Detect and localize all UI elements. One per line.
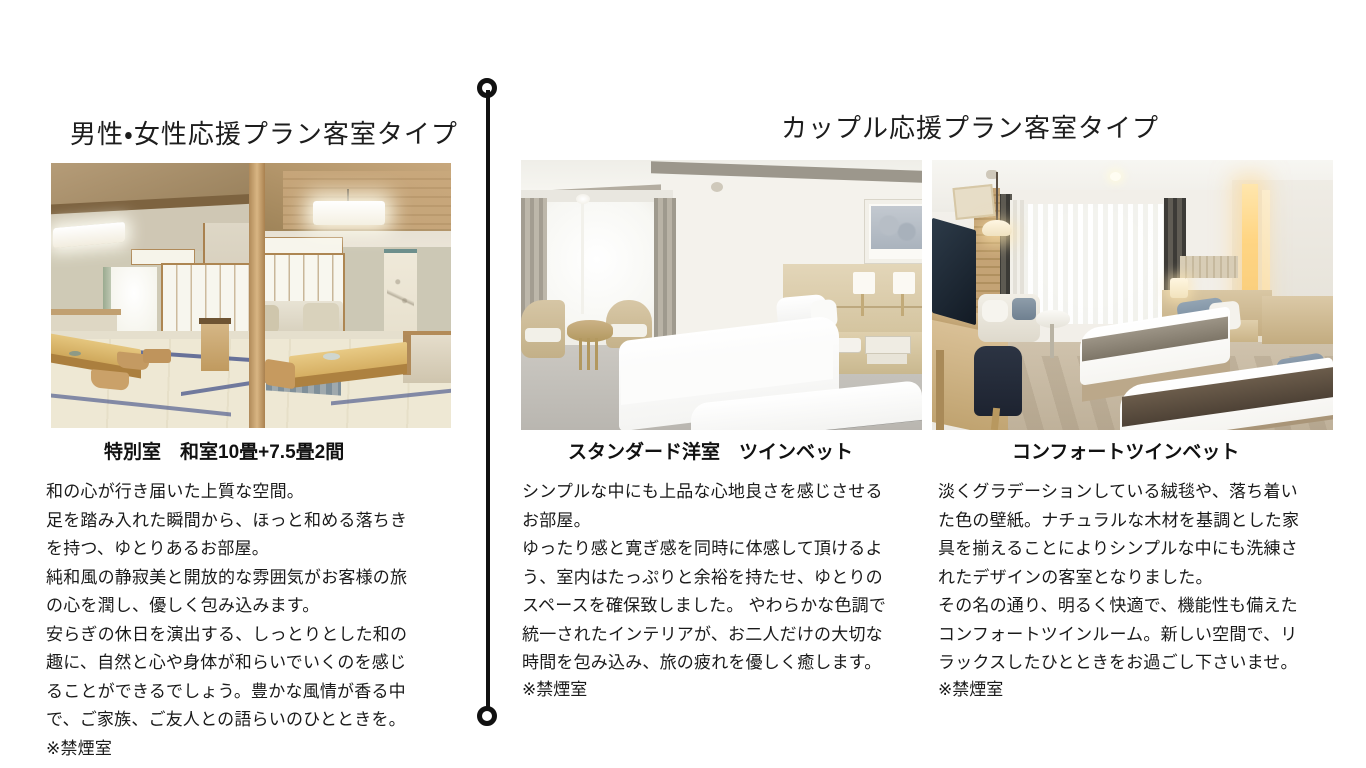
divider-bottom-ring-icon bbox=[477, 706, 497, 726]
room-description-comfort-twin: 淡くグラデーションしている絨毯や、落ち着い た色の壁紙。ナチュラルな木材を基調と… bbox=[938, 478, 1338, 678]
room-description-standard-twin: シンプルな中にも上品な心地良さを感じさせる お部屋。 ゆったり感と寛ぎ感を同時に… bbox=[522, 478, 928, 678]
room-photo-standard-twin bbox=[521, 160, 922, 430]
smoking-note-standard-twin: ※禁煙室 bbox=[522, 676, 587, 705]
room-type-comparison-page: 男性・女性応援プラン客室タイプ bbox=[0, 0, 1366, 768]
plan-title-left: 男性・女性応援プラン客室タイプ bbox=[70, 114, 458, 151]
smoking-note-comfort-twin: ※禁煙室 bbox=[938, 676, 1003, 705]
plan-title-right: カップル応援プラン客室タイプ bbox=[781, 108, 1159, 145]
room-name-japanese-suite: 特別室 和室10畳+7.5畳2間 bbox=[104, 437, 344, 464]
room-name-comfort-twin: コンフォートツインベット bbox=[1012, 437, 1239, 464]
room-description-japanese-suite: 和の心が行き届いた上質な空間。 足を踏み入れた瞬間から、ほっと和める落ちき を持… bbox=[46, 478, 458, 763]
room-photo-comfort-twin bbox=[932, 160, 1333, 430]
room-name-standard-twin: スタンダード洋室 ツインベット bbox=[568, 437, 853, 464]
divider-stem bbox=[486, 90, 490, 716]
room-photo-japanese-suite bbox=[51, 163, 451, 428]
vertical-divider bbox=[483, 78, 492, 726]
